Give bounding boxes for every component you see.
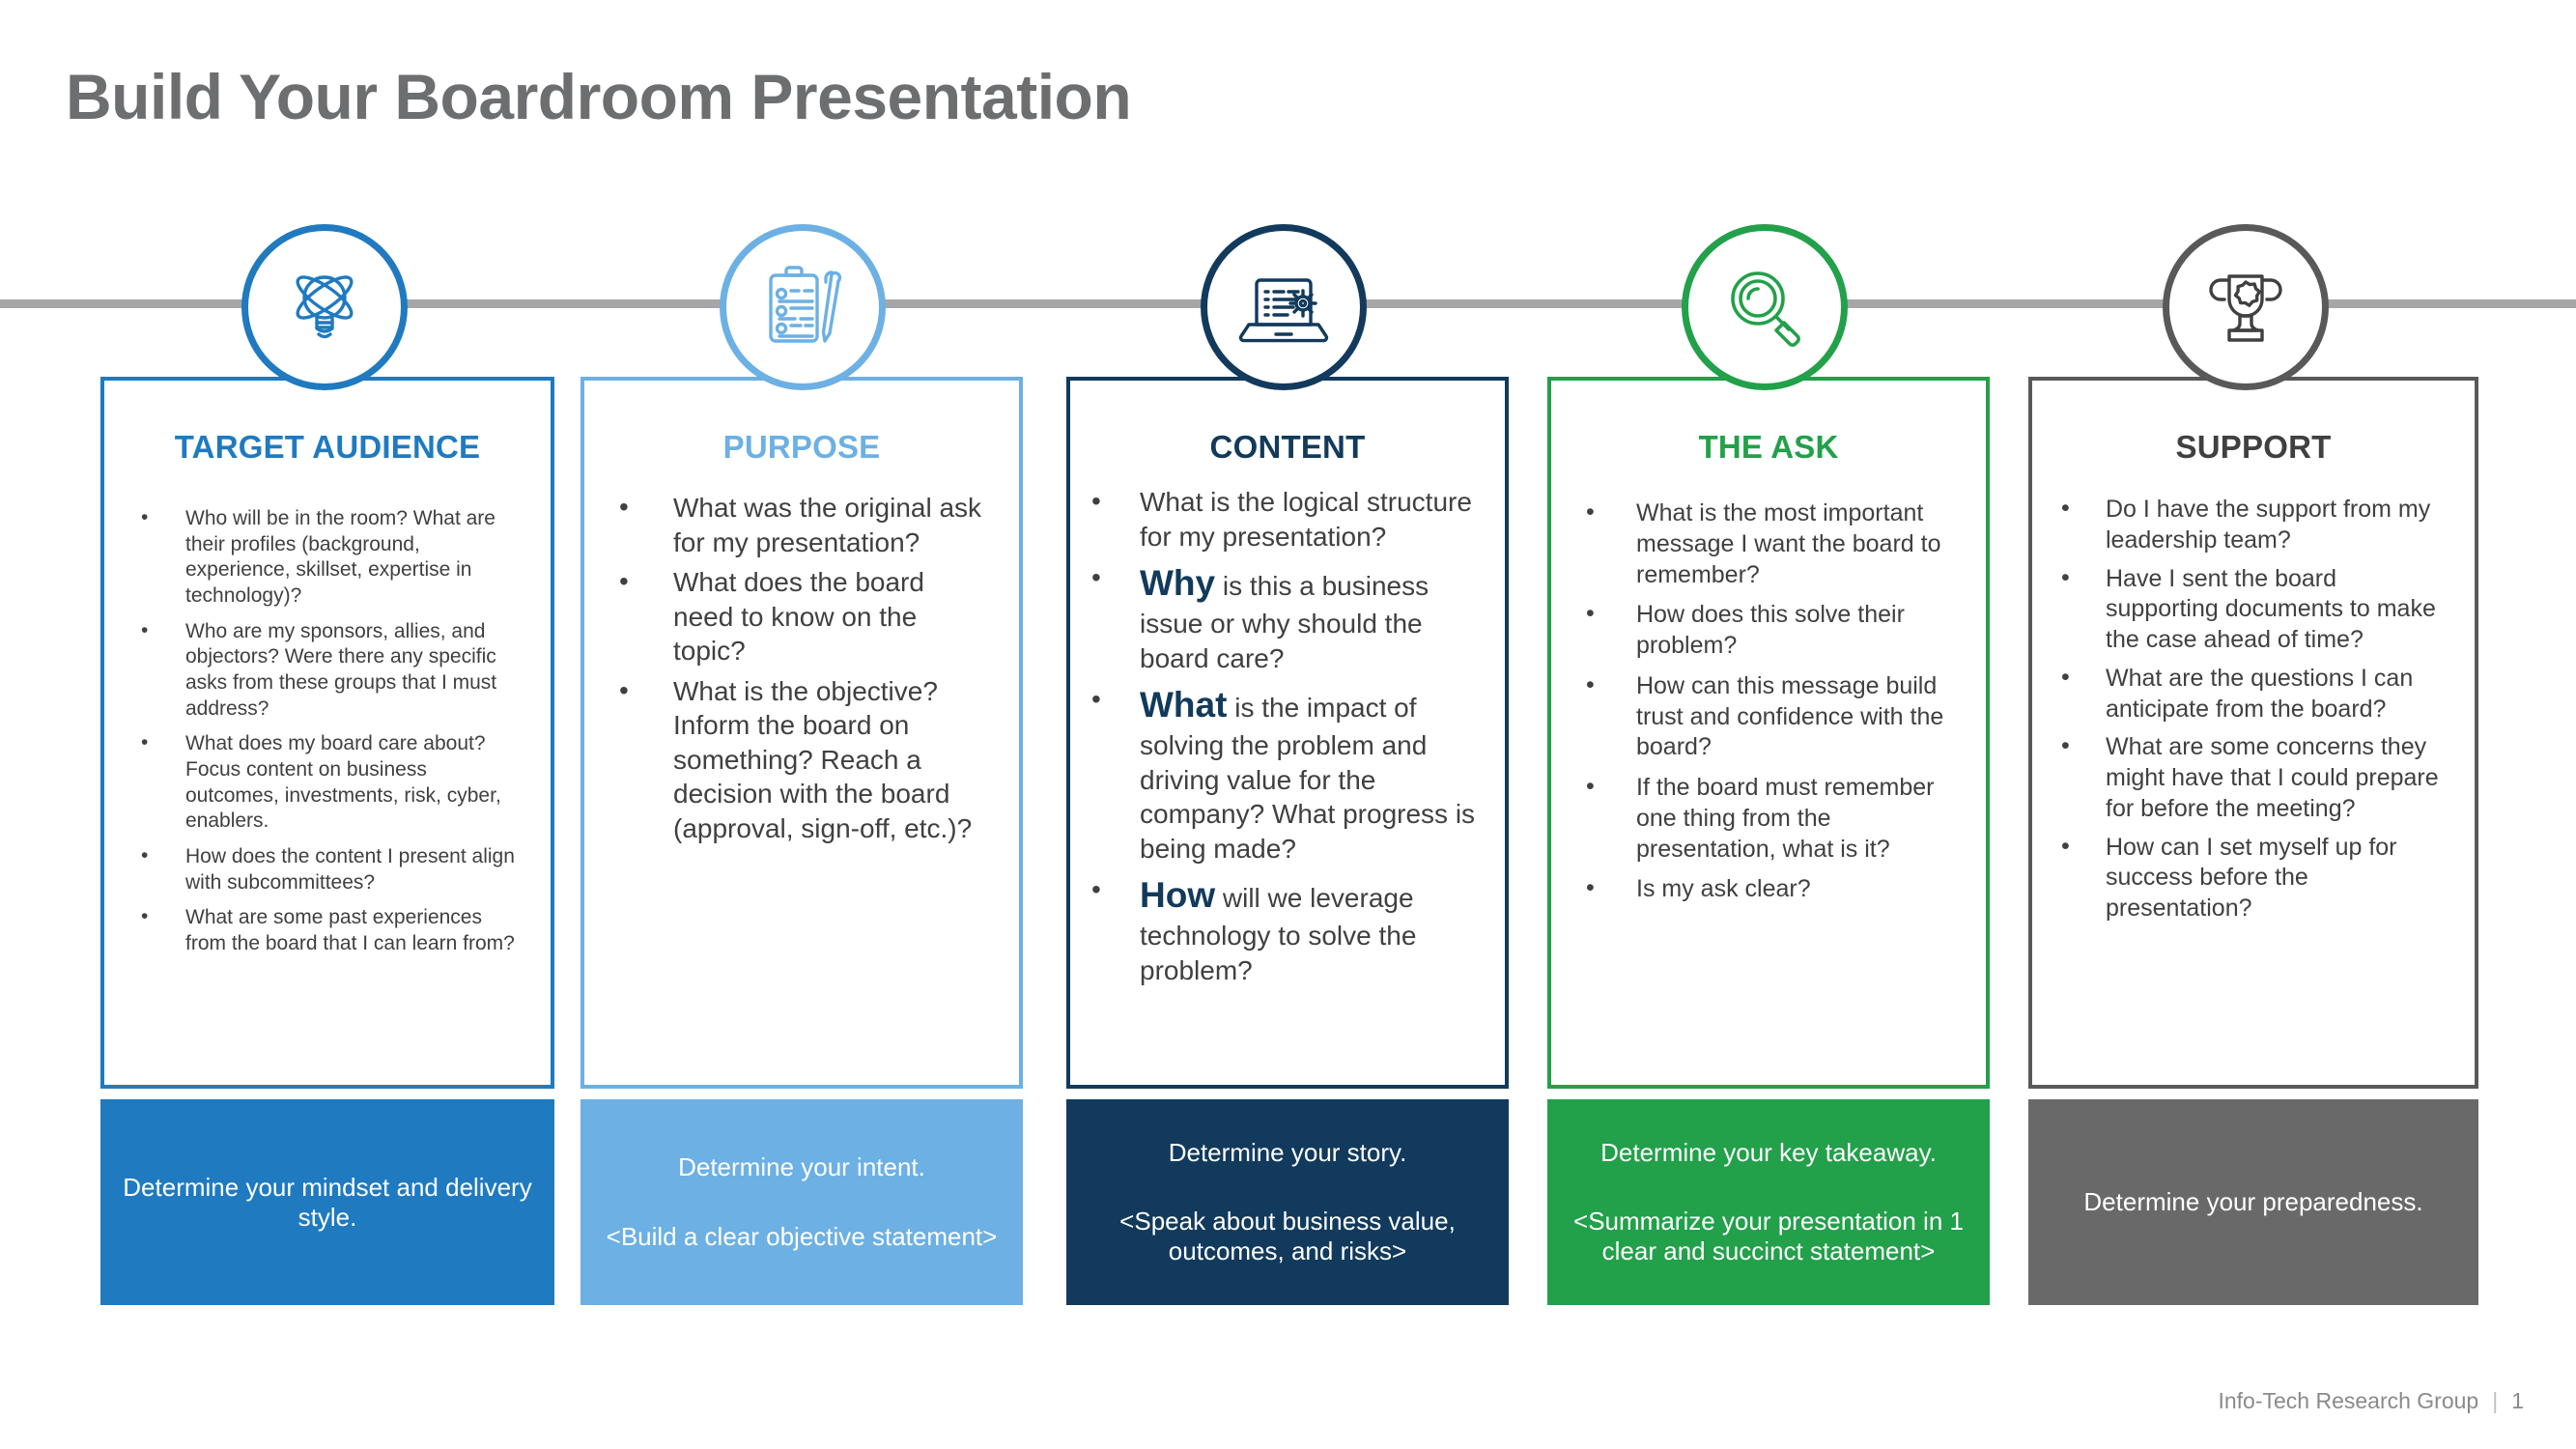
- list-item: How will we leverage technology to solve…: [1091, 873, 1480, 987]
- card-title: CONTENT: [1070, 381, 1505, 466]
- list-item: What are some past experiences from the …: [141, 905, 524, 956]
- list-item-lead: Why: [1140, 563, 1215, 603]
- list-item: Who are my sponsors, allies, and objecto…: [141, 619, 524, 723]
- laptop-gear-icon: [1201, 224, 1367, 390]
- band-line-1: Determine your key takeaway.: [1600, 1138, 1937, 1168]
- bullet-list: What is the logical structure for my pre…: [1091, 485, 1480, 987]
- lightbulb-atom-icon: [241, 224, 408, 390]
- clipboard-checklist-pen-icon: [720, 224, 886, 390]
- band-line-1: Determine your preparedness.: [2083, 1187, 2422, 1217]
- band-line-2: <Build a clear objective statement>: [607, 1222, 998, 1252]
- band-target-audience: Determine your mindset and delivery styl…: [100, 1099, 554, 1305]
- bullet-list: What is the most important message I wan…: [1586, 498, 1957, 905]
- list-item: Who will be in the room? What are their …: [141, 506, 524, 610]
- card-title: THE ASK: [1551, 381, 1986, 466]
- card-title: SUPPORT: [2032, 381, 2475, 466]
- list-item: Is my ask clear?: [1586, 874, 1957, 905]
- list-item-lead: What: [1140, 685, 1227, 724]
- footer-credit: Info-Tech Research Group | 1: [2218, 1388, 2524, 1414]
- card-purpose: PURPOSE What was the original ask for my…: [580, 377, 1023, 1089]
- band-purpose: Determine your intent. <Build a clear ob…: [580, 1099, 1023, 1305]
- band-line-1: Determine your mindset and delivery styl…: [100, 1173, 554, 1233]
- list-item: What is the impact of solving the proble…: [1091, 683, 1480, 866]
- magnifying-glass-icon: [1682, 224, 1848, 390]
- band-line-1: Determine your intent.: [678, 1152, 925, 1182]
- band-line-2: <Speak about business value, outcomes, a…: [1066, 1207, 1509, 1266]
- bullet-list: Who will be in the room? What are their …: [141, 506, 524, 957]
- list-item: How can this message build trust and con…: [1586, 671, 1957, 763]
- band-line-2: <Summarize your presentation in 1 clear …: [1547, 1207, 1990, 1266]
- band-the-ask: Determine your key takeaway. <Summarize …: [1547, 1099, 1990, 1305]
- list-item: What does the board need to know on the …: [619, 565, 990, 668]
- band-line-1: Determine your story.: [1169, 1138, 1407, 1168]
- list-item-text: What is the logical structure for my pre…: [1140, 487, 1472, 552]
- list-item: What is the logical structure for my pre…: [1091, 485, 1480, 554]
- list-item: What is the objective? Inform the board …: [619, 674, 990, 846]
- list-item: Have I sent the board supporting documen…: [2061, 564, 2451, 656]
- bullet-list: Do I have the support from my leadership…: [2061, 495, 2451, 924]
- list-item: How does the content I present align wit…: [141, 844, 524, 895]
- slide-canvas: Build Your Boardroom Presentation TARGET…: [0, 0, 2576, 1449]
- card-title: TARGET AUDIENCE: [104, 381, 551, 466]
- card-the-ask: THE ASK What is the most important messa…: [1547, 377, 1990, 1089]
- list-item: What was the original ask for my present…: [619, 491, 990, 559]
- page-number: 1: [2511, 1388, 2524, 1414]
- list-item: What are some concerns they might have t…: [2061, 732, 2451, 824]
- list-item: How does this solve their problem?: [1586, 600, 1957, 662]
- band-support: Determine your preparedness.: [2028, 1099, 2478, 1305]
- card-title: PURPOSE: [584, 381, 1019, 466]
- list-item: What is the most important message I wan…: [1586, 498, 1957, 590]
- list-item: Why is this a business issue or why shou…: [1091, 561, 1480, 675]
- list-item: What are the questions I can anticipate …: [2061, 664, 2451, 725]
- card-target-audience: TARGET AUDIENCE Who will be in the room?…: [100, 377, 554, 1089]
- list-item: How can I set myself up for success befo…: [2061, 833, 2451, 924]
- bullet-list: What was the original ask for my present…: [619, 491, 990, 845]
- list-item-lead: How: [1140, 875, 1215, 915]
- band-content: Determine your story. <Speak about busin…: [1066, 1099, 1509, 1305]
- card-content: CONTENT What is the logical structure fo…: [1066, 377, 1509, 1089]
- separator: |: [2492, 1388, 2498, 1414]
- columns-container: TARGET AUDIENCE Who will be in the room?…: [0, 0, 2576, 1449]
- list-item: Do I have the support from my leadership…: [2061, 495, 2451, 556]
- list-item: If the board must remember one thing fro…: [1586, 773, 1957, 865]
- card-support: SUPPORT Do I have the support from my le…: [2028, 377, 2478, 1089]
- trophy-icon: [2163, 224, 2329, 390]
- brand-label: Info-Tech Research Group: [2218, 1388, 2478, 1414]
- list-item: What does my board care about? Focus con…: [141, 731, 524, 835]
